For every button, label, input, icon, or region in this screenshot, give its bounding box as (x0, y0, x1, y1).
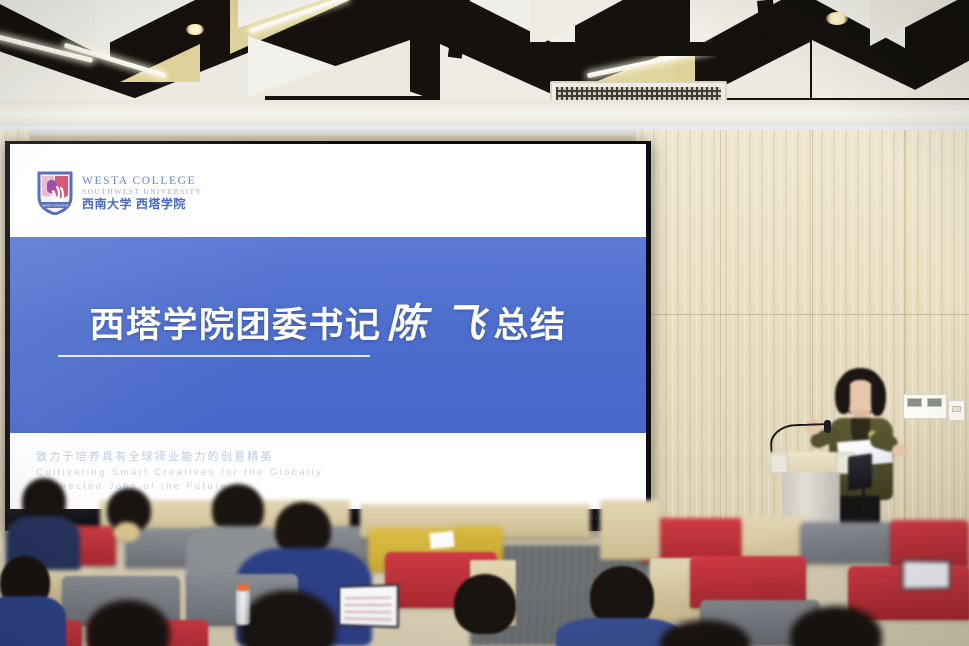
westa-college-logo: SMART CREATIVE WESTA COLLEGE SOUTHWEST U… (37, 171, 202, 215)
tagline-chinese: 致力于培养具有全球择业能力的创意精英 (36, 449, 323, 466)
logo-english-name: WESTA COLLEGE (82, 176, 202, 188)
audience-seating-area (0, 470, 969, 646)
microphone-head-icon (824, 420, 831, 433)
audience-torso-mid-1 (0, 596, 66, 646)
presenter-hand-right (892, 444, 906, 457)
college-crest-icon: SMART CREATIVE (37, 171, 73, 215)
presentation-slide: SMART CREATIVE WESTA COLLEGE SOUTHWEST U… (10, 144, 646, 509)
water-bottle-cap (237, 584, 249, 591)
audience-laptop-screen[interactable] (338, 584, 399, 629)
slide-title: 西塔学院团委书记陈 飞总结 (10, 291, 646, 349)
logo-chinese-name: 西南大学 西塔学院 (82, 198, 202, 210)
control-panel-display-2 (927, 398, 942, 407)
laptop-screen-content (345, 591, 392, 620)
triangular-acoustic-ceiling (0, 0, 969, 104)
lecture-hall-photo: SMART CREATIVE WESTA COLLEGE SOUTHWEST U… (0, 0, 969, 646)
water-bottle (236, 589, 250, 625)
audience-head-mid-2 (454, 574, 516, 634)
desk-row-back-far-right (600, 500, 660, 560)
audience-head-mid-3 (590, 566, 654, 626)
presenter-hair-right (871, 378, 886, 416)
logo-university-name: SOUTHWEST UNIVERSITY (82, 188, 202, 196)
svg-text:SMART CREATIVE: SMART CREATIVE (42, 204, 69, 208)
slide-title-name: 陈 飞 (382, 301, 494, 346)
ceiling-spot-light (186, 24, 204, 35)
notebook-page (429, 531, 455, 549)
hair-scrunchie (114, 522, 140, 542)
ceiling-spot-light (826, 12, 848, 25)
audience-laptop-screen-right[interactable] (901, 559, 950, 590)
presenter-hair-left (835, 378, 850, 414)
slide-header-area: SMART CREATIVE WESTA COLLEGE SOUTHWEST U… (10, 144, 646, 237)
slide-title-suffix: 总结 (494, 306, 567, 345)
slide-title-prefix: 西塔学院团委书记 (89, 306, 381, 345)
title-underline-rule (58, 355, 370, 357)
switch-rocker[interactable] (952, 406, 961, 412)
slide-title-band: 西塔学院团委书记陈 飞总结 (10, 237, 646, 433)
seat-gray-back-right-1[interactable] (800, 522, 896, 564)
